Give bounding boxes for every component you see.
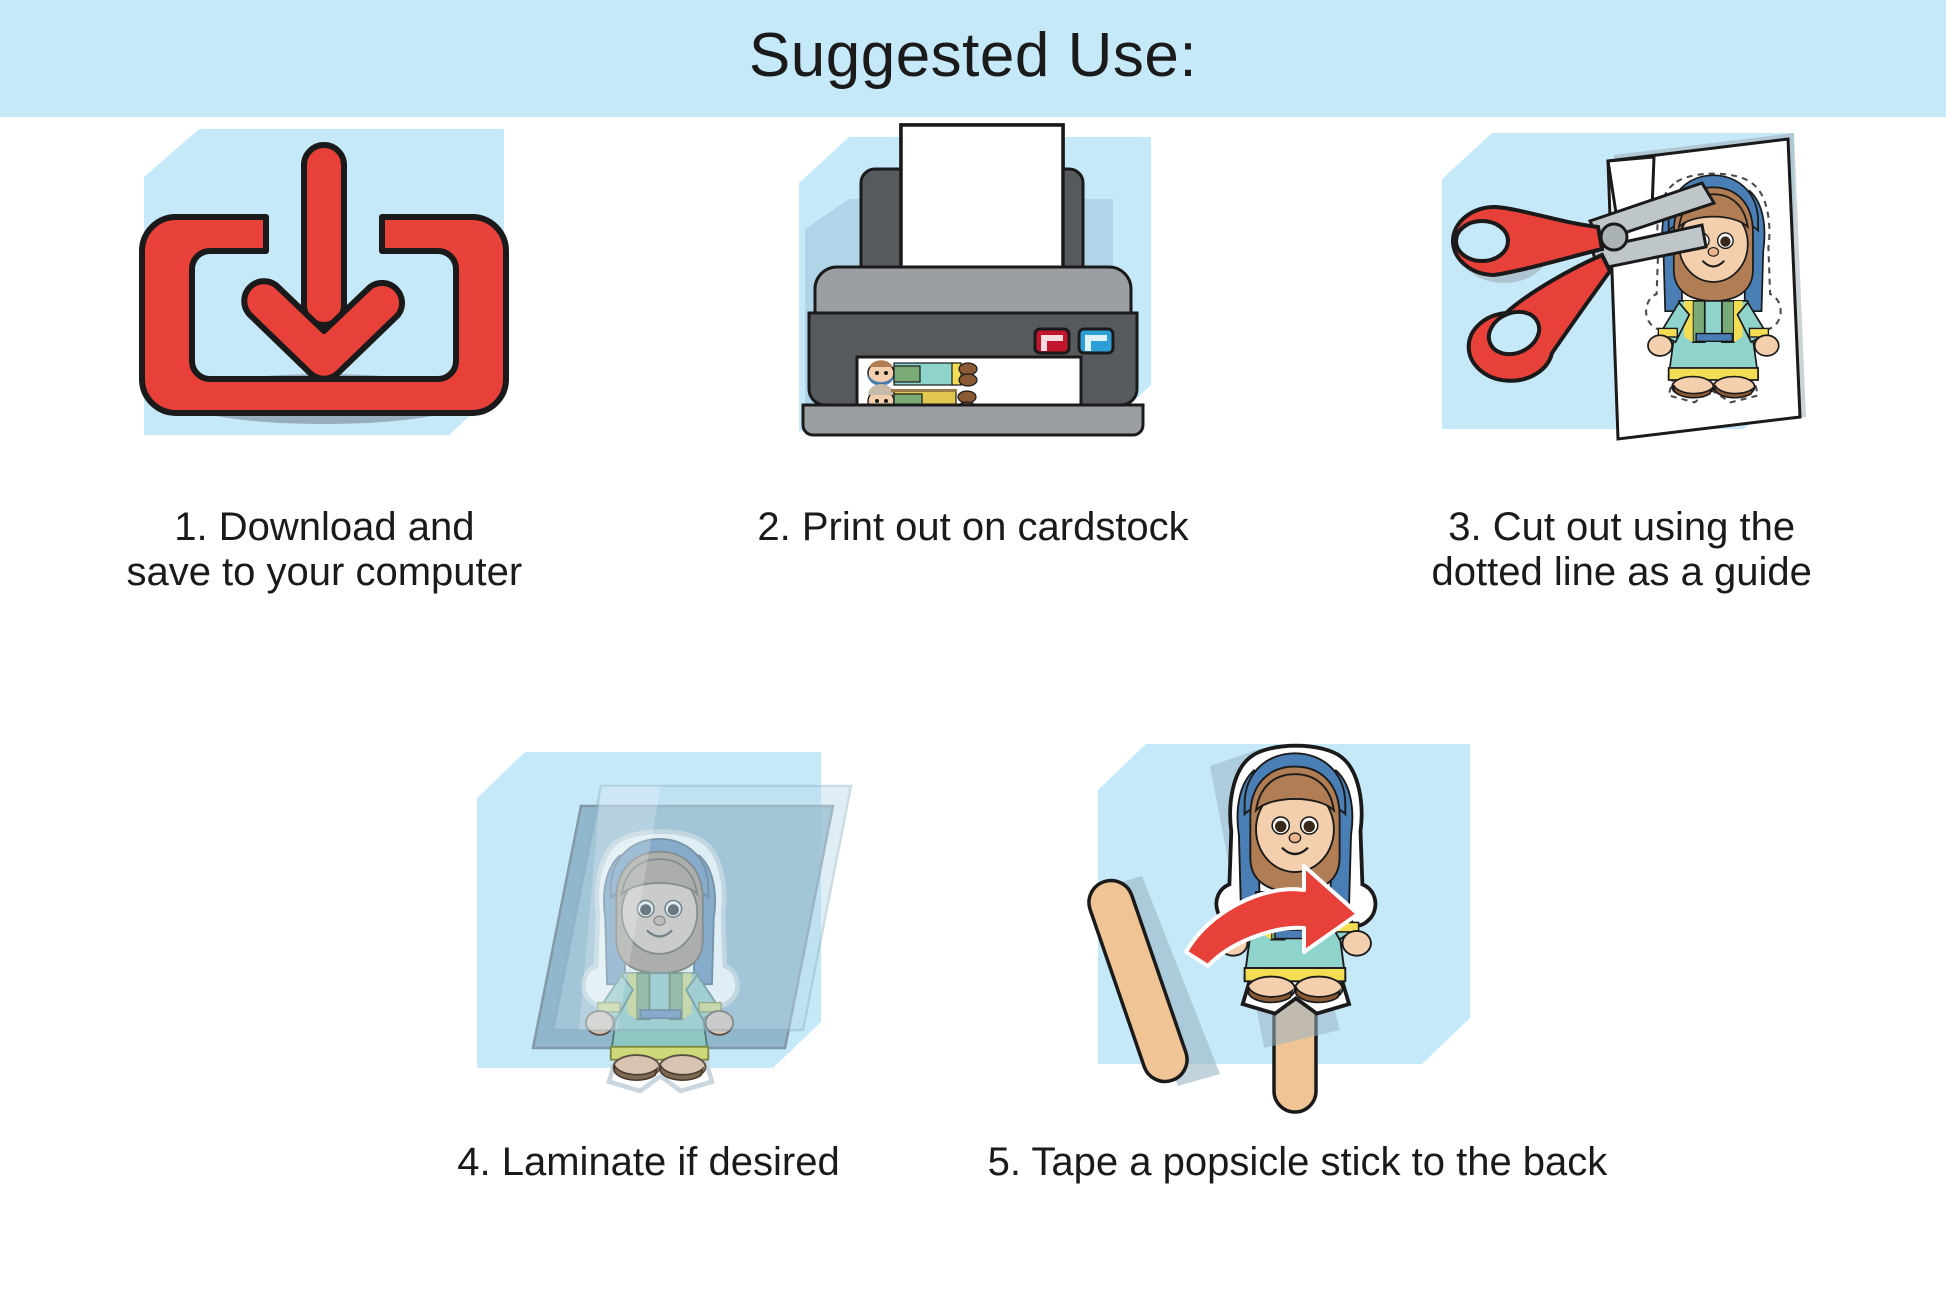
printed-character-woman: [867, 360, 977, 386]
popsicle-stick-illustration: [1078, 730, 1518, 1130]
step-5-tape-stick: 5. Tape a popsicle stick to the back: [973, 730, 1622, 1293]
download-arrow-illustration: [104, 117, 544, 487]
step-3-cut: 3. Cut out using the dotted line as a gu…: [1297, 117, 1946, 697]
step-2-print: 2. Print out on cardstock: [649, 117, 1298, 697]
printer-top-shelf: [815, 267, 1131, 313]
step-4-laminate: 4. Laminate if desired: [324, 730, 973, 1293]
hand-right: [1754, 335, 1778, 356]
steps-row-top: 1. Download and save to your computer: [0, 117, 1946, 697]
step-1-caption: 1. Download and save to your computer: [126, 505, 522, 595]
step-3-caption: 3. Cut out using the dotted line as a gu…: [1432, 505, 1812, 595]
laminating-sheet-illustration: [429, 730, 869, 1130]
step-2-caption: 2. Print out on cardstock: [757, 505, 1188, 550]
printer-base: [803, 405, 1143, 435]
scissors-pivot-screw: [1601, 224, 1627, 250]
step-1-download: 1. Download and save to your computer: [0, 117, 649, 697]
belt: [1696, 334, 1732, 342]
laminate-icon: [429, 730, 869, 1130]
pupil-right: [1720, 236, 1730, 246]
scissors-handle-upper-hole: [1456, 221, 1508, 261]
page-title: Suggested Use:: [749, 25, 1197, 93]
nose: [1708, 248, 1718, 257]
header-band: Suggested Use:: [0, 0, 1946, 117]
pupil-right: [1303, 821, 1314, 832]
printer-illustration: [753, 117, 1193, 487]
scissors-cutting-illustration: [1402, 117, 1842, 487]
printer-icon: [753, 117, 1193, 487]
hand-right: [1342, 931, 1371, 956]
arrow-shaft: [304, 145, 344, 325]
popsicle-stick-icon: [1078, 730, 1518, 1130]
steps-row-bottom: 4. Laminate if desired: [0, 730, 1946, 1293]
feed-paper-front: [901, 125, 1063, 289]
pupil-left: [1275, 821, 1286, 832]
hand-left: [1648, 335, 1672, 356]
nose: [1289, 833, 1300, 843]
scissors-icon: [1402, 117, 1842, 487]
step-5-caption: 5. Tape a popsicle stick to the back: [988, 1140, 1608, 1185]
step-4-caption: 4. Laminate if desired: [457, 1140, 839, 1185]
download-icon: [104, 117, 544, 487]
